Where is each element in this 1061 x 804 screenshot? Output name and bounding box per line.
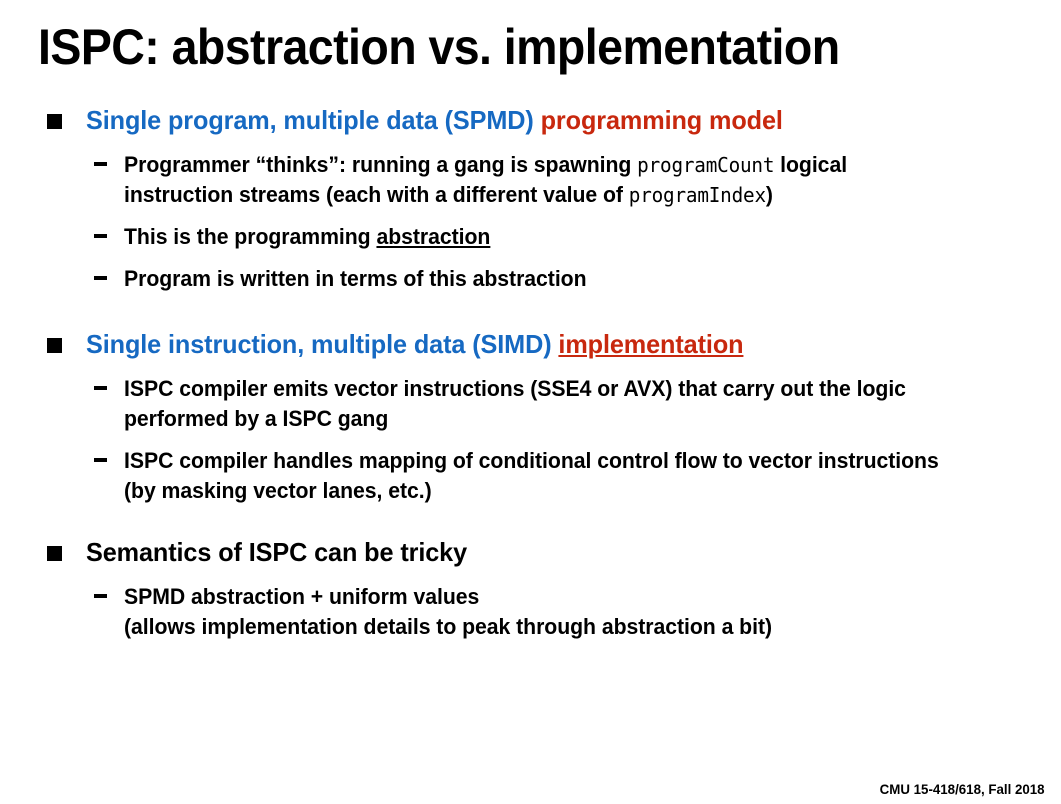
sub-bullet-simd-2: ISPC compiler handles mapping of conditi… bbox=[0, 446, 1061, 506]
slide-footer: CMU 15-418/618, Fall 2018 bbox=[880, 780, 1045, 798]
run-plain: Programmer “thinks”: running a gang is s… bbox=[124, 152, 637, 177]
sub-bullet-spmd-1-text: Programmer “thinks”: running a gang is s… bbox=[124, 150, 1028, 210]
sub-bullet-semantics-1: SPMD abstraction + uniform values (allow… bbox=[0, 582, 1061, 642]
sub-bullet-spmd-3: Program is written in terms of this abst… bbox=[0, 264, 1061, 294]
text-line: SPMD abstraction + uniform values bbox=[124, 582, 1028, 612]
text-line: This is the programming abstraction bbox=[124, 222, 1028, 252]
heading-run-blue: Single instruction, multiple data (SIMD) bbox=[86, 329, 558, 359]
run-plain: ) bbox=[766, 182, 773, 207]
slide-title: ISPC: abstraction vs. implementation bbox=[38, 18, 968, 76]
sub-bullet-spmd-2-text: This is the programming abstraction bbox=[124, 222, 1028, 252]
text-line: Program is written in terms of this abst… bbox=[124, 264, 1028, 294]
square-bullet-icon bbox=[47, 546, 62, 561]
run-plain: instruction streams (each with a differe… bbox=[124, 182, 629, 207]
sub-bullet-simd-1-text: ISPC compiler emits vector instructions … bbox=[124, 374, 1028, 434]
sub-bullet-spmd-2: This is the programming abstraction bbox=[0, 222, 1061, 252]
text-line: performed by a ISPC gang bbox=[124, 404, 1028, 434]
section-spacer bbox=[0, 506, 1061, 536]
bullet-spmd-heading: Single program, multiple data (SPMD) pro… bbox=[86, 104, 1032, 137]
slide-canvas: ISPC: abstraction vs. implementation Sin… bbox=[0, 0, 1061, 804]
bullet-simd-heading: Single instruction, multiple data (SIMD)… bbox=[86, 328, 1032, 361]
heading-run-blue: Single program, multiple data (SPMD) bbox=[86, 105, 541, 135]
text-line: ISPC compiler emits vector instructions … bbox=[124, 374, 1028, 404]
bullet-simd: Single instruction, multiple data (SIMD)… bbox=[0, 328, 1061, 362]
dash-bullet-icon bbox=[94, 276, 107, 280]
section-spacer bbox=[0, 294, 1061, 328]
square-bullet-icon bbox=[47, 338, 62, 353]
run-plain: logical bbox=[774, 152, 847, 177]
sub-bullet-semantics-1-text: SPMD abstraction + uniform values (allow… bbox=[124, 582, 1028, 642]
text-line: ISPC compiler handles mapping of conditi… bbox=[124, 446, 1028, 476]
dash-bullet-icon bbox=[94, 162, 107, 166]
sub-bullet-spmd-3-text: Program is written in terms of this abst… bbox=[124, 264, 1028, 294]
bullet-semantics-heading: Semantics of ISPC can be tricky bbox=[86, 536, 1032, 569]
dash-bullet-icon bbox=[94, 234, 107, 238]
bullet-group-semantics: Semantics of ISPC can be tricky SPMD abs… bbox=[0, 536, 1061, 642]
run-code-programcount: programCount bbox=[637, 153, 774, 177]
bullet-semantics: Semantics of ISPC can be tricky bbox=[0, 536, 1061, 570]
dash-bullet-icon bbox=[94, 458, 107, 462]
heading-run-red: programming model bbox=[541, 105, 783, 135]
sub-bullet-spmd-1: Programmer “thinks”: running a gang is s… bbox=[0, 150, 1061, 210]
text-line: (by masking vector lanes, etc.) bbox=[124, 476, 1028, 506]
text-line: Programmer “thinks”: running a gang is s… bbox=[124, 150, 1028, 180]
sub-bullet-simd-2-text: ISPC compiler handles mapping of conditi… bbox=[124, 446, 1028, 506]
text-line: (allows implementation details to peak t… bbox=[124, 612, 1028, 642]
bullet-group-simd: Single instruction, multiple data (SIMD)… bbox=[0, 328, 1061, 506]
square-bullet-icon bbox=[47, 114, 62, 129]
bullet-group-spmd: Single program, multiple data (SPMD) pro… bbox=[0, 104, 1061, 294]
run-plain: This is the programming bbox=[124, 224, 376, 249]
heading-run-red-underline: implementation bbox=[558, 329, 743, 359]
run-code-programindex: programIndex bbox=[629, 183, 766, 207]
dash-bullet-icon bbox=[94, 386, 107, 390]
sub-bullet-simd-1: ISPC compiler emits vector instructions … bbox=[0, 374, 1061, 434]
slide-body: Single program, multiple data (SPMD) pro… bbox=[0, 104, 1061, 642]
run-underline-abstraction: abstraction bbox=[376, 224, 490, 249]
text-line: instruction streams (each with a differe… bbox=[124, 180, 1028, 210]
bullet-spmd: Single program, multiple data (SPMD) pro… bbox=[0, 104, 1061, 138]
dash-bullet-icon bbox=[94, 594, 107, 598]
